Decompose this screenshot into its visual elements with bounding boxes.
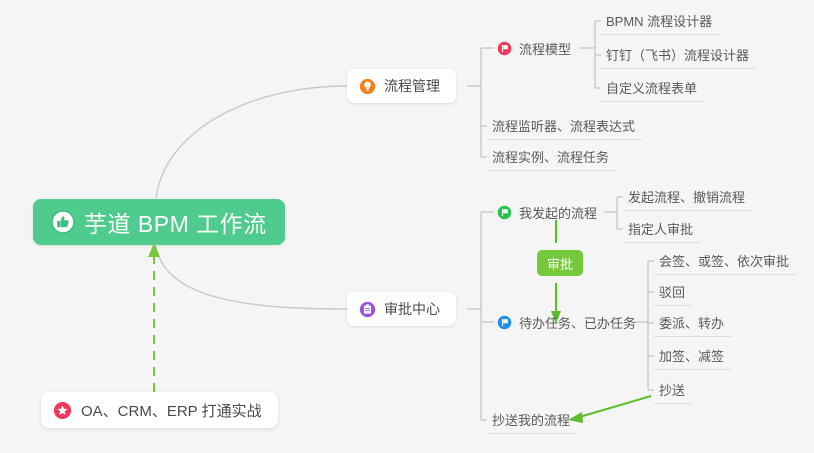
clipboard-icon — [359, 301, 376, 318]
link-root-to-approval-center — [156, 246, 347, 309]
node-custom-process-form[interactable]: 自定义流程表单 — [601, 74, 704, 102]
node-delegate-transfer[interactable]: 委派、转办 — [654, 309, 731, 337]
node-label: 会签、或签、依次审批 — [659, 251, 789, 270]
node-label: 发起流程、撤销流程 — [628, 187, 745, 206]
node-my-initiated-process[interactable]: 我发起的流程 — [494, 198, 604, 226]
branch-label: 流程管理 — [384, 76, 440, 96]
node-dingtalk-feishu-designer[interactable]: 钉钉（飞书）流程设计器 — [601, 41, 756, 69]
flag-icon — [497, 41, 512, 56]
thumbs-up-icon — [51, 210, 75, 234]
callout-arrow — [148, 243, 160, 392]
node-label: 待办任务、已办任务 — [519, 313, 636, 332]
branch-label: 审批中心 — [384, 299, 440, 319]
cc-flow-arrow — [568, 396, 651, 423]
node-label: 流程实例、流程任务 — [492, 147, 609, 166]
node-label: 流程监听器、流程表达式 — [492, 116, 635, 135]
mindmap-canvas: 芋道 BPM 工作流 流程管理 流程模型 BPMN 流程设计器 钉钉（飞书 — [0, 0, 814, 453]
star-icon — [53, 401, 72, 420]
node-label: 加签、减签 — [659, 346, 724, 365]
node-label: 流程模型 — [519, 39, 571, 58]
node-label: BPMN 流程设计器 — [606, 11, 712, 30]
node-process-listener-expression[interactable]: 流程监听器、流程表达式 — [487, 112, 642, 140]
lightbulb-icon — [359, 78, 376, 95]
branch-approval-center[interactable]: 审批中心 — [347, 292, 456, 326]
approval-badge[interactable]: 审批 — [537, 250, 583, 276]
node-countersign-orsign-sequential[interactable]: 会签、或签、依次审批 — [654, 247, 796, 275]
node-bpmn-designer[interactable]: BPMN 流程设计器 — [601, 7, 719, 35]
flag-icon — [497, 205, 512, 220]
node-process-model[interactable]: 流程模型 — [494, 34, 578, 62]
node-label: 我发起的流程 — [519, 203, 597, 222]
node-label: 指定人审批 — [628, 219, 693, 238]
node-cc-to-me-process[interactable]: 抄送我的流程 — [487, 406, 577, 434]
branch-process-management[interactable]: 流程管理 — [347, 69, 456, 103]
badge-label: 审批 — [547, 254, 573, 273]
node-assignee-approval[interactable]: 指定人审批 — [623, 215, 700, 243]
node-reject[interactable]: 驳回 — [654, 278, 692, 306]
link-root-to-process-management — [156, 86, 347, 198]
node-label: 自定义流程表单 — [606, 78, 697, 97]
root-node[interactable]: 芋道 BPM 工作流 — [33, 199, 285, 245]
node-todo-done-tasks[interactable]: 待办任务、已办任务 — [494, 308, 643, 336]
node-label: 委派、转办 — [659, 313, 724, 332]
node-label: 钉钉（飞书）流程设计器 — [606, 45, 749, 64]
root-label: 芋道 BPM 工作流 — [84, 205, 267, 239]
node-start-cancel-process[interactable]: 发起流程、撤销流程 — [623, 183, 752, 211]
callout-label: OA、CRM、ERP 打通实战 — [81, 400, 262, 421]
node-cc[interactable]: 抄送 — [654, 376, 692, 404]
node-process-instance-task[interactable]: 流程实例、流程任务 — [487, 143, 616, 171]
node-label: 抄送我的流程 — [492, 410, 570, 429]
flag-icon — [497, 315, 512, 330]
node-label: 驳回 — [659, 282, 685, 301]
node-label: 抄送 — [659, 380, 685, 399]
integration-callout[interactable]: OA、CRM、ERP 打通实战 — [41, 392, 278, 428]
node-add-remove-sign[interactable]: 加签、减签 — [654, 342, 731, 370]
